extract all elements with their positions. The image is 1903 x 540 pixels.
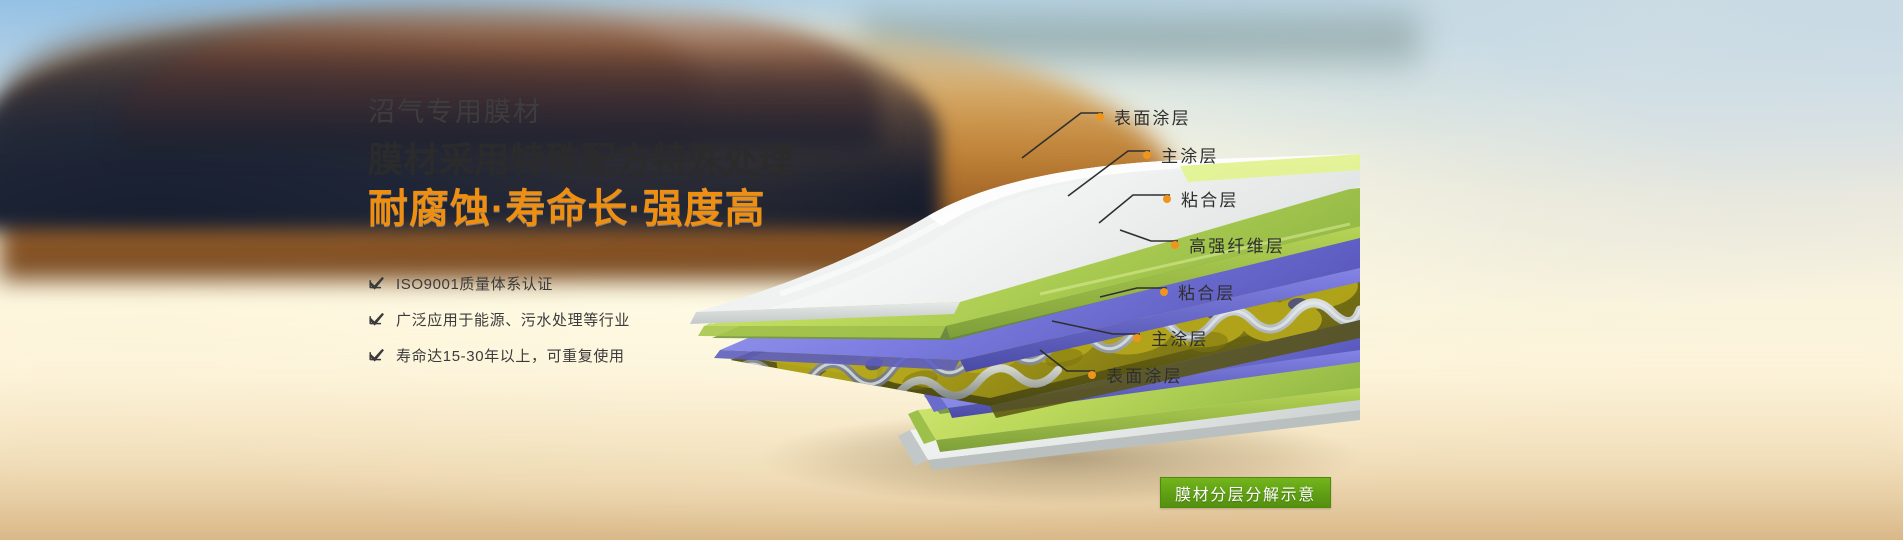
callout-label: 粘合层 — [1181, 186, 1239, 211]
callout-label: 表面涂层 — [1106, 362, 1183, 387]
check-icon — [368, 312, 385, 329]
bullet-dot-icon — [1160, 288, 1168, 296]
callout-label: 高强纤维层 — [1189, 232, 1285, 257]
callout-label: 主涂层 — [1151, 325, 1209, 350]
check-icon — [368, 348, 385, 365]
bullet-dot-icon — [1096, 113, 1104, 121]
membrane-layer-diagram — [660, 58, 1360, 518]
bullet-dot-icon — [1088, 371, 1096, 379]
callout-main-coating-top: 主涂层 — [1143, 142, 1219, 167]
bullet-dot-icon — [1143, 151, 1151, 159]
callout-main-coating-bottom: 主涂层 — [1133, 325, 1209, 350]
promo-banner: 沼气专用膜材 膜材采用特殊配方特殊处理 耐腐蚀·寿命长·强度高 ISO9001质… — [0, 0, 1903, 540]
callout-adhesive-bottom: 粘合层 — [1160, 279, 1236, 304]
callout-adhesive-top: 粘合层 — [1163, 186, 1239, 211]
bullet-dot-icon — [1163, 195, 1171, 203]
callout-label: 粘合层 — [1178, 279, 1236, 304]
check-icon — [368, 276, 385, 293]
callout-high-strength-fiber: 高强纤维层 — [1171, 232, 1285, 257]
list-item-label: 寿命达15-30年以上，可重复使用 — [396, 345, 625, 366]
diagram-caption-label: 膜材分层分解示意 — [1175, 481, 1316, 505]
bullet-dot-icon — [1171, 241, 1179, 249]
callout-label: 主涂层 — [1161, 142, 1219, 167]
callout-surface-coating-top: 表面涂层 — [1096, 104, 1191, 129]
list-item-label: 广泛应用于能源、污水处理等行业 — [396, 309, 630, 330]
list-item-label: ISO9001质量体系认证 — [396, 273, 553, 294]
bullet-dot-icon — [1133, 334, 1141, 342]
callout-surface-coating-bottom: 表面涂层 — [1088, 362, 1183, 387]
diagram-caption-badge: 膜材分层分解示意 — [1160, 477, 1331, 508]
callout-label: 表面涂层 — [1114, 104, 1191, 129]
